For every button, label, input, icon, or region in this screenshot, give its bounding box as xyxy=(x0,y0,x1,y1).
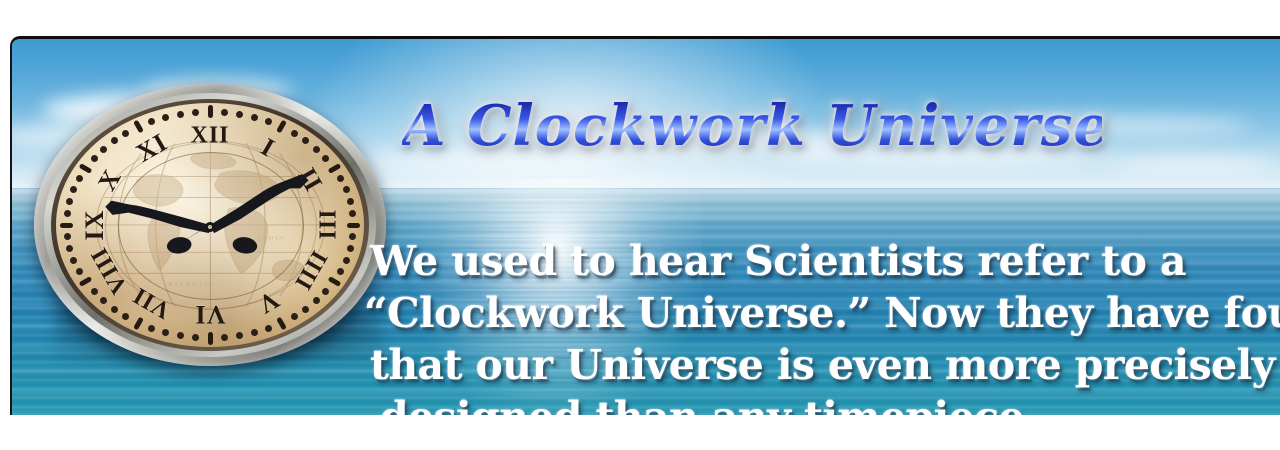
clockwork-universe-banner: A T L A N T I C I N D I A XIIIIIIIIIIIIV… xyxy=(10,36,1280,415)
screenshot-root: A T L A N T I C I N D I A XIIIIIIIIIIIIV… xyxy=(0,0,1280,450)
page-title: A Clockwork Universe? xyxy=(402,91,1102,161)
quote-line: “Clockwork Universe.” Now they have foun… xyxy=(364,287,1280,339)
banner-quote-text: We used to hear Scientists refer to a “C… xyxy=(362,235,1280,415)
clock-face: A T L A N T I C I N D I A XIIIIIIIIIIIIV… xyxy=(56,103,364,347)
antique-clock-image: A T L A N T I C I N D I A XIIIIIIIIIIIIV… xyxy=(34,84,386,366)
quote-line: designed than any timepiece. xyxy=(380,391,1280,415)
cloud-shape xyxy=(1102,157,1280,171)
quote-line: that our Universe is even more precisely xyxy=(370,339,1280,391)
quote-line: We used to hear Scientists refer to a xyxy=(370,235,1280,287)
clock-hands-svg xyxy=(56,103,364,347)
